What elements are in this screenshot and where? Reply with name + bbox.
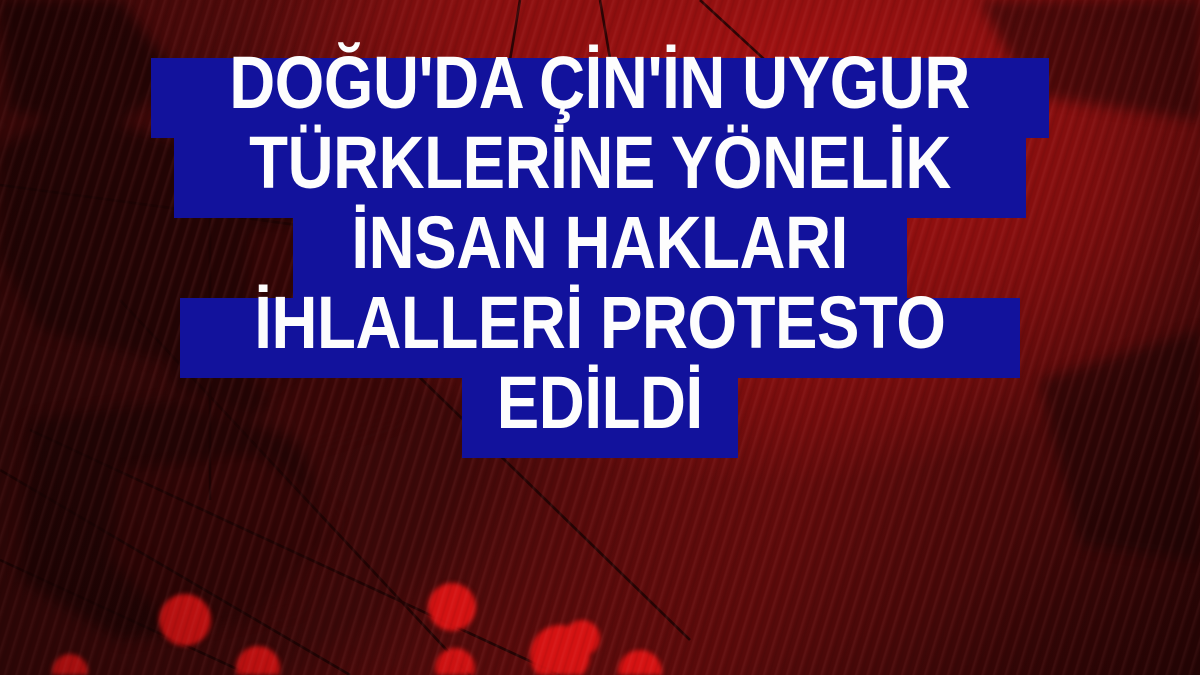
- headline-line-4: İHLALLERİ PROTESTO: [188, 286, 1012, 360]
- headline-line-text: İHLALLERİ PROTESTO: [246, 286, 954, 360]
- headline-line-3: İNSAN HAKLARI: [301, 206, 898, 280]
- headline-line-text: DOĞU'DA ÇİN'İN UYGUR: [221, 46, 979, 120]
- headline-line-5: EDİLDİ: [470, 366, 730, 440]
- headline-line-text: İNSAN HAKLARI: [343, 206, 857, 280]
- headline-block: DOĞU'DA ÇİN'İN UYGUR TÜRKLERİNE YÖNELİK …: [0, 46, 1200, 446]
- headline-line-text: TÜRKLERİNE YÖNELİK: [241, 126, 960, 200]
- headline-line-2: TÜRKLERİNE YÖNELİK: [182, 126, 1018, 200]
- headline-line-1: DOĞU'DA ÇİN'İN UYGUR: [159, 46, 1040, 120]
- headline-line-text: EDİLDİ: [488, 366, 711, 440]
- news-headline-card: DOĞU'DA ÇİN'İN UYGUR TÜRKLERİNE YÖNELİK …: [0, 0, 1200, 675]
